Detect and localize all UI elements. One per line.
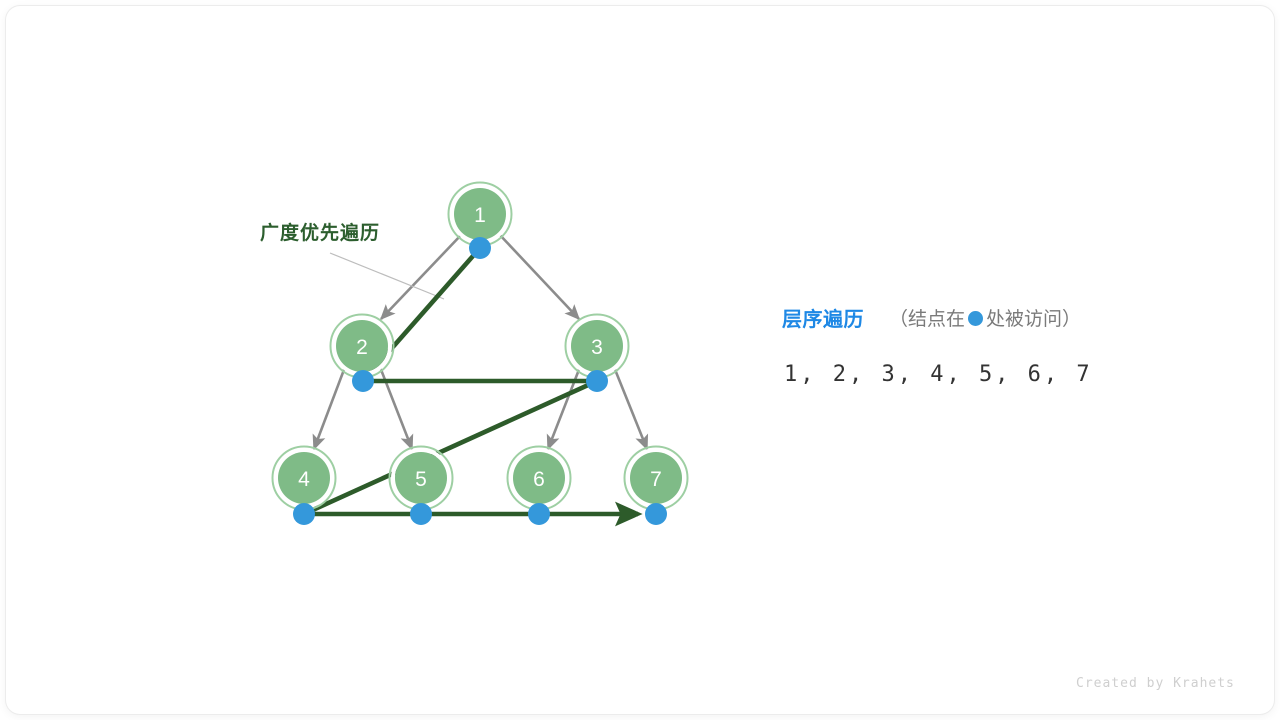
legend-note-suffix: 处被访问） (986, 304, 1081, 331)
legend-note-prefix: （结点在 (889, 304, 965, 331)
tree-edge-3-7 (614, 367, 647, 449)
tree-node-3[interactable]: 3 (566, 315, 629, 378)
tree-node-4[interactable]: 4 (273, 447, 336, 510)
bfs-annotation-label: 广度优先遍历 (260, 218, 380, 245)
tree-edge-2-4 (314, 367, 345, 449)
tree-node-2[interactable]: 2 (331, 315, 394, 378)
node-5-label: 5 (415, 468, 427, 491)
node-2-label: 2 (356, 336, 368, 359)
legend-title: 层序遍历 (782, 303, 864, 332)
node-6-label: 6 (533, 468, 545, 491)
tree-edge-1-3 (499, 234, 579, 319)
node-2-visit-dot-icon[interactable] (352, 370, 374, 392)
node-3-label: 3 (591, 336, 603, 359)
node-7-label: 7 (650, 468, 662, 491)
credit-text: Created by Krahets (1076, 676, 1235, 691)
tree-edge-1-2 (381, 234, 462, 319)
tree-node-1[interactable]: 1 (449, 183, 512, 246)
legend-note: （结点在 处被访问） (889, 304, 1081, 331)
node-1-label: 1 (474, 204, 486, 227)
tree-node-7[interactable]: 7 (625, 447, 688, 510)
node-4-visit-dot-icon[interactable] (293, 503, 315, 525)
node-3-visit-dot-icon[interactable] (586, 370, 608, 392)
node-5-visit-dot-icon[interactable] (410, 503, 432, 525)
node-4-label: 4 (298, 468, 310, 491)
leader-line (330, 253, 444, 299)
node-7-visit-dot-icon[interactable] (645, 503, 667, 525)
traversal-sequence: 1, 2, 3, 4, 5, 6, 7 (784, 362, 1093, 387)
node-6-visit-dot-icon[interactable] (528, 503, 550, 525)
node-1-visit-dot-icon[interactable] (469, 237, 491, 259)
tree-node-5[interactable]: 5 (390, 447, 453, 510)
tree-node-6[interactable]: 6 (508, 447, 571, 510)
figure-canvas: 1 2 3 4 (0, 0, 1280, 720)
binary-tree-bfs-diagram: 1 2 3 4 (0, 0, 1280, 720)
blue-dot-icon (968, 311, 983, 326)
